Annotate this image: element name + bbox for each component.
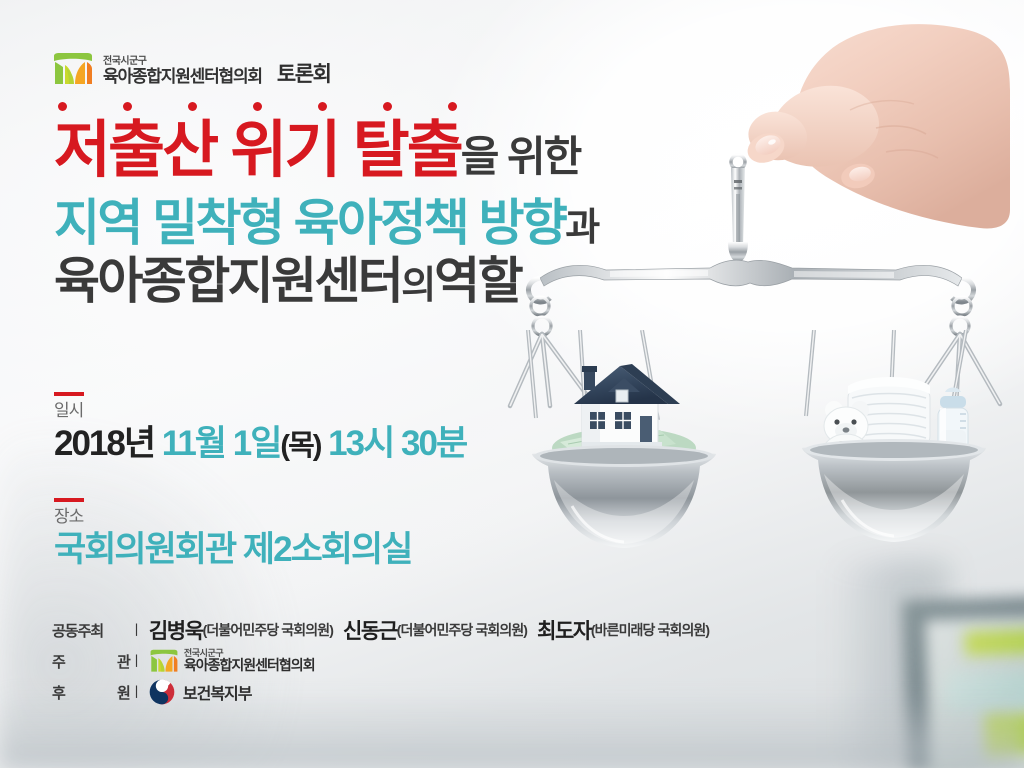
venue-rule: [54, 498, 84, 502]
house-on-money-pan-icon: [520, 330, 730, 600]
credits-sponsor-name: 보건복지부: [183, 680, 252, 704]
credits-cohost-bar: ㅣ: [130, 620, 143, 640]
datetime-day: 1일: [233, 424, 281, 463]
info-datetime-block: 일시 2018년 11월 1일(목) 13시 30분: [54, 392, 466, 465]
datetime-hour: 13시: [328, 424, 393, 463]
credits-organizer-row: 주 관 ㅣ 전국시군구 육아종합지원센터협의회: [52, 649, 709, 673]
header-organization-line: 전국시군구 육아종합지원센터협의회 토론회: [52, 52, 331, 86]
poster-canvas: 전국시군구 육아종합지원센터협의회 토론회 저출산 위기 탈출 을 위한 지역 …: [0, 0, 1024, 768]
credits-cohost-name-2: 최도자: [537, 615, 591, 645]
credits-sponsor-key-1: 후: [52, 682, 65, 703]
header-org-sub: 전국시군구: [103, 56, 262, 67]
info-venue-block: 장소 국회의원회관 제2소회의실: [54, 498, 411, 571]
credits-sponsor-bar: ㅣ: [130, 682, 143, 702]
credits-organizer-key-2: 관: [117, 651, 130, 672]
header-org-text: 전국시군구 육아종합지원센터협의회: [103, 56, 262, 86]
credits-sponsor-row: 후 원 ㅣ 보건복지부: [52, 680, 709, 704]
credits-organizer-bar: ㅣ: [130, 651, 143, 671]
headline-line3-particle: 의: [401, 265, 434, 307]
credits-cohost-name-1: 신동근: [343, 615, 397, 645]
headline-line3-bold: 역할: [434, 253, 521, 309]
headline-line-1: 저출산 위기 탈출 을 위한: [54, 120, 754, 182]
baby-items-pan-icon: [790, 330, 1000, 600]
credits-cohost-key: 공동주최: [52, 620, 130, 641]
header-forum-word: 토론회: [277, 64, 331, 86]
credits-block: 공동주최 ㅣ 김병욱(더불어민주당 국회의원)신동근(더불어민주당 국회의원)최…: [52, 618, 709, 711]
credits-organizer-main: 육아종합지원센터협의회: [184, 658, 315, 673]
credits-cohost-name-0: 김병욱: [149, 615, 203, 645]
credits-organizer-key-1: 주: [52, 651, 65, 672]
balance-scale-illustration: [500, 0, 1024, 640]
headline-block: 저출산 위기 탈출 을 위한 지역 밀착형 육아정책 방향과 육아종합지원센터의…: [54, 120, 754, 306]
credits-sponsor-key-2: 원: [117, 682, 130, 703]
datetime-label: 일시: [54, 401, 466, 421]
headline-emphasis-phrase: 저출산 위기 탈출: [54, 120, 461, 182]
datetime-rule: [54, 392, 84, 396]
credits-cohost-aff-1: (더불어민주당 국회의원): [397, 620, 527, 640]
credits-association-leaf-logo-icon: [149, 649, 179, 673]
datetime-year: 2018년: [54, 424, 154, 463]
credits-organizer-text: 전국시군구 육아종합지원센터협의회: [184, 649, 315, 673]
emphasis-dots: [58, 102, 457, 111]
datetime-weekday: (목): [280, 430, 320, 462]
headline-emphasis-tail: 을 위한: [461, 133, 581, 180]
credits-cohost-aff-0: (더불어민주당 국회의원): [203, 620, 333, 640]
credits-cohost-key-text: 공동주최: [52, 620, 103, 641]
datetime-value: 2018년 11월 1일(목) 13시 30분: [54, 424, 466, 464]
venue-value: 국회의원회관 제2소회의실: [54, 530, 411, 570]
credits-cohost-aff-2: (바른미래당 국회의원): [591, 620, 709, 640]
headline-emphasis-text: 저출산 위기 탈출: [54, 116, 461, 185]
association-leaf-logo-icon: [52, 52, 94, 86]
datetime-month: 11월: [162, 424, 225, 463]
credits-sponsor-key: 후 원: [52, 682, 130, 703]
headline-line2-tail: 과: [565, 207, 598, 249]
venue-label: 장소: [54, 507, 411, 527]
credits-cohost-row: 공동주최 ㅣ 김병욱(더불어민주당 국회의원)신동근(더불어민주당 국회의원)최…: [52, 618, 709, 642]
datetime-minute: 30분: [401, 424, 466, 463]
taegeuk-government-emblem-icon: [149, 679, 175, 705]
headline-line-2: 지역 밀착형 육아정책 방향과: [54, 198, 754, 248]
header-org-main: 육아종합지원센터협의회: [103, 68, 262, 86]
credits-organizer-key: 주 관: [52, 651, 130, 672]
headline-line2-teal: 지역 밀착형 육아정책 방향: [54, 195, 565, 251]
headline-line-3: 육아종합지원센터의역할: [54, 256, 754, 306]
headline-line3-dark: 육아종합지원센터: [54, 253, 401, 309]
